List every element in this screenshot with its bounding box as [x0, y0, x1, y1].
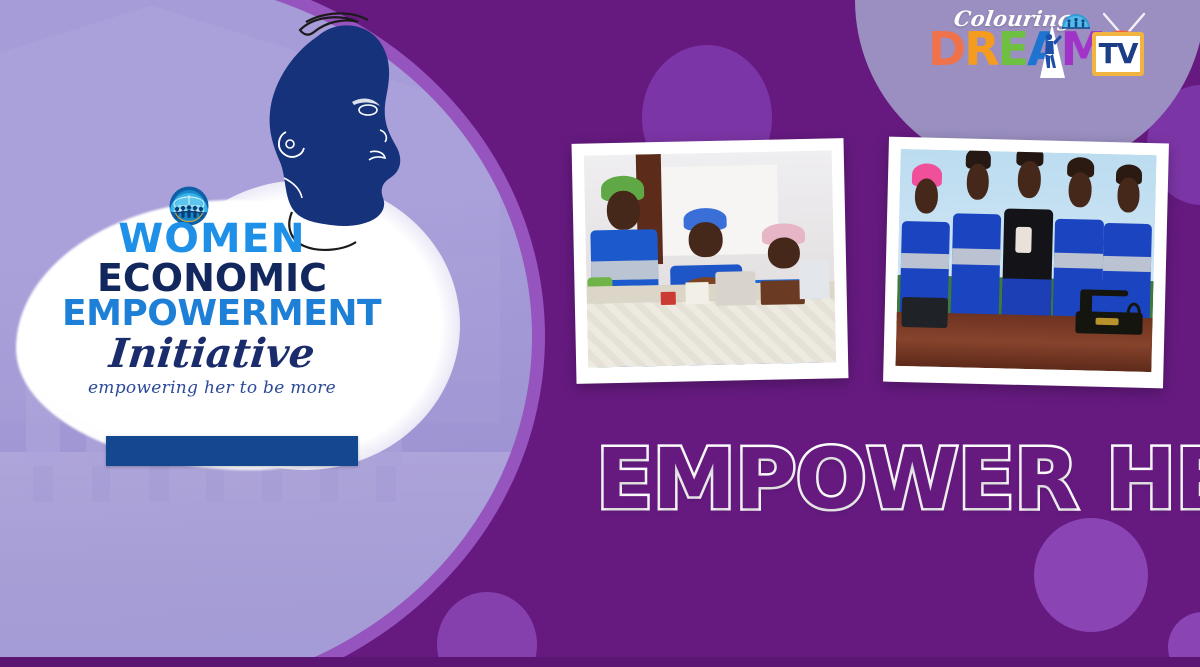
weei-line-empowerment: EMPOWERMENT [62, 297, 362, 331]
sewing-machine-icon [1076, 290, 1144, 335]
brand-tv-box: TV [1092, 32, 1144, 76]
photo-tailoring [883, 137, 1169, 389]
bottom-strip [0, 657, 1200, 667]
photo-cooking-image [584, 150, 836, 367]
brand-letter-e-2: E [998, 26, 1027, 72]
weei-line-women: WOMEN [59, 220, 365, 258]
brand-painter-figure-icon [1034, 24, 1068, 78]
page-title: EMPOWER HER [596, 436, 1156, 522]
banner-canvas: WOMEN ECONOMIC EMPOWERMENT Initiative em… [0, 0, 1200, 667]
weei-tagline: empowering her to be more [62, 378, 362, 398]
weei-logo: WOMEN ECONOMIC EMPOWERMENT Initiative em… [62, 186, 442, 476]
weei-logo-bar [106, 436, 358, 466]
weei-line-economic: ECONOMIC [62, 260, 362, 296]
photo-tailoring-image [895, 149, 1156, 372]
brand-tv-label: TV [1099, 40, 1138, 68]
weei-logo-text: WOMEN ECONOMIC EMPOWERMENT Initiative em… [62, 220, 362, 398]
colouring-dreams-tv-logo[interactable]: Colouring DREAMS TV [928, 6, 1144, 84]
decorative-circle-bottom-right [1034, 518, 1148, 632]
brand-letter-r-1: R [964, 26, 997, 72]
weei-line-initiative: Initiative [60, 334, 364, 374]
photo-cooking [572, 138, 849, 384]
brand-letter-d-0: D [928, 26, 964, 72]
